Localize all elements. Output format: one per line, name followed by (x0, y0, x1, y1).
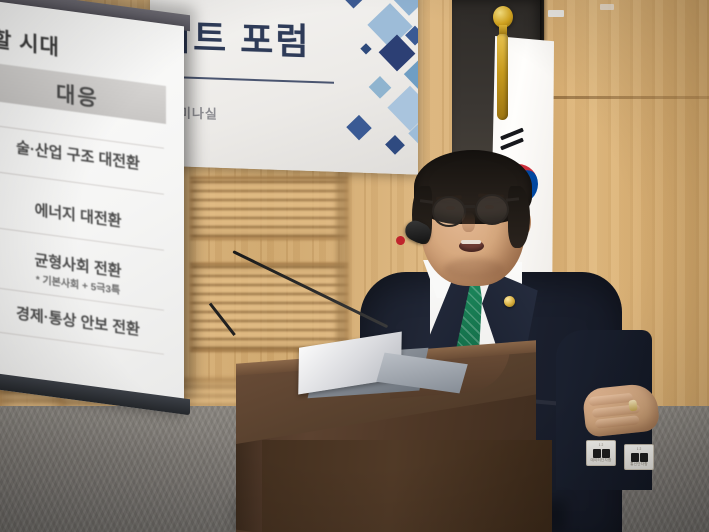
glasses-lens-left (432, 196, 466, 227)
lapel-pin-icon (504, 296, 515, 307)
outlet-plate-top-label: 1 2 (625, 447, 653, 451)
glasses-bridge (464, 205, 475, 208)
speaker-hand (582, 382, 661, 437)
wall-sticker-label (548, 10, 564, 17)
nose (462, 212, 475, 232)
finger-ring (628, 399, 637, 411)
slide-row-3: 경제·통상 안보 전환 (0, 297, 176, 344)
slide-band-label: 대응 (56, 77, 99, 113)
teeth (461, 240, 481, 244)
outlet-jack[interactable] (602, 449, 610, 458)
wall-sticker-label-2 (600, 4, 614, 10)
podium-front-panel (262, 440, 552, 532)
screenshot-scene: 이트 포럼 세미나실 할 시대 대응 술·산업 구조 대전환 에너지 대전환 균… (0, 0, 709, 532)
outlet-plate-label: 통신단자함 (625, 462, 653, 467)
flag-tassel (497, 34, 508, 120)
outlet-jack[interactable] (640, 453, 648, 462)
speaker-hair-right (508, 186, 530, 248)
outlet-jack[interactable] (593, 449, 601, 458)
outlet-plate-top-label: 1 2 (587, 443, 615, 447)
outlet-plate-label: 데이터단자함 (587, 458, 615, 463)
outlet-jack[interactable] (631, 453, 639, 462)
glasses-lens-right (475, 194, 509, 225)
wall-outlet-plate[interactable]: 1 2데이터단자함 (586, 440, 616, 466)
slide-title: 할 시대 (0, 23, 142, 73)
projection-screen: 할 시대 대응 술·산업 구조 대전환 에너지 대전환 균형사회 전환 * 기본… (0, 0, 184, 414)
chin-shadow (444, 258, 504, 280)
wall-outlet-plate[interactable]: 1 2통신단자함 (624, 444, 654, 470)
slide-content: 할 시대 대응 술·산업 구조 대전환 에너지 대전환 균형사회 전환 * 기본… (0, 0, 184, 414)
wall-slat-panel-upper (190, 176, 348, 240)
